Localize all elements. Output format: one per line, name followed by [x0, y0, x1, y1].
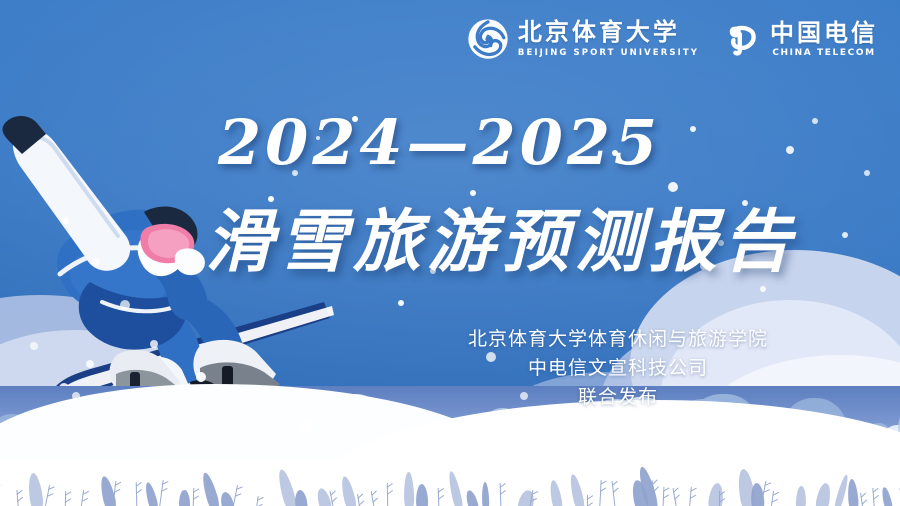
poster-canvas: 北京体育大学 BEIJING SPORT UNIVERSITY 中国电信 CHI… — [0, 0, 900, 506]
leaf-shape — [815, 482, 834, 506]
sprig-shape — [689, 487, 692, 506]
leaf-shape — [796, 486, 807, 506]
snow-particle — [690, 126, 696, 132]
sprig-shape — [136, 482, 138, 506]
sprig-shape — [587, 495, 588, 506]
snow-particle — [63, 218, 69, 224]
snow-particle — [92, 258, 100, 266]
swirl-logo-icon — [467, 18, 509, 60]
subtitle-line: 北京体育大学体育休闲与旅游学院 — [453, 325, 783, 354]
foreground-foliage — [0, 444, 900, 506]
sprig-shape — [662, 487, 664, 506]
snow-particle — [72, 392, 80, 400]
leaf-shape — [339, 475, 358, 506]
snow-particle — [864, 170, 870, 176]
sprig-shape — [81, 490, 84, 506]
logo-china-telecom: 中国电信 CHINA TELECOM — [721, 19, 878, 59]
snow-particle — [760, 286, 766, 292]
subtitle-line: 联合发布 — [453, 383, 783, 412]
leaf-shape — [179, 490, 190, 506]
sprig-shape — [357, 494, 360, 506]
sprig-shape — [599, 480, 601, 506]
sprig-shape — [438, 488, 440, 506]
subtitle-block: 北京体育大学体育休闲与旅游学院 中电信文宣科技公司 联合发布 — [453, 325, 783, 412]
ct-name-en: CHINA TELECOM — [770, 49, 878, 58]
leaf-shape — [548, 479, 564, 506]
leaf-shape — [27, 473, 45, 506]
page-title: 滑雪旅游预测报告 — [205, 186, 797, 285]
subtitle-line: 中电信文宣科技公司 — [453, 354, 783, 383]
sprig-shape — [872, 488, 874, 506]
leaf-shape — [416, 484, 429, 506]
leaf-shape — [568, 474, 586, 506]
sprig-shape — [719, 491, 720, 506]
snow-particle — [398, 300, 404, 306]
sprig-shape — [611, 481, 615, 506]
snow-particle — [786, 146, 794, 154]
sprig-shape — [256, 496, 258, 506]
bsu-name-en: BEIJING SPORT UNIVERSITY — [518, 49, 699, 58]
sprig-shape — [233, 485, 238, 506]
ct-text-block: 中国电信 CHINA TELECOM — [770, 21, 878, 58]
leaf-shape — [446, 471, 463, 506]
logo-beijing-sport-university: 北京体育大学 BEIJING SPORT UNIVERSITY — [467, 18, 699, 60]
bsu-name-cn: 北京体育大学 — [518, 20, 699, 44]
sprig-shape — [370, 491, 374, 506]
leaf-shape — [464, 489, 480, 506]
bsu-text-block: 北京体育大学 BEIJING SPORT UNIVERSITY — [518, 20, 699, 58]
sprig-shape — [45, 485, 50, 506]
leaf-shape — [847, 478, 860, 506]
sprig-shape — [387, 483, 388, 506]
snow-particle — [150, 340, 158, 348]
sprig-shape — [159, 480, 163, 506]
leaf-shape — [880, 486, 893, 506]
sprig-shape — [499, 483, 501, 506]
leaf-shape — [403, 472, 414, 506]
snow-particle — [842, 232, 848, 238]
snow-particle — [196, 372, 206, 382]
sprig-shape — [193, 488, 195, 506]
leaf-shape — [200, 471, 221, 506]
logo-bar: 北京体育大学 BEIJING SPORT UNIVERSITY 中国电信 CHI… — [467, 18, 878, 60]
leaf-shape — [482, 482, 490, 506]
sprig-shape — [65, 491, 66, 506]
year-range-title: 2024—2025 — [218, 106, 661, 179]
snow-particle — [812, 118, 818, 124]
sprig-shape — [860, 493, 863, 506]
sprig-shape — [17, 490, 19, 506]
leaf-shape — [293, 490, 307, 506]
leaf-shape — [708, 482, 725, 506]
ct-name-cn: 中国电信 — [770, 21, 878, 45]
china-telecom-logo-icon — [721, 19, 761, 59]
snow-particle — [120, 300, 130, 310]
snow-particle — [300, 420, 312, 432]
leaf-shape — [143, 481, 159, 506]
sprig-shape — [672, 488, 676, 505]
sprig-shape — [771, 491, 774, 506]
